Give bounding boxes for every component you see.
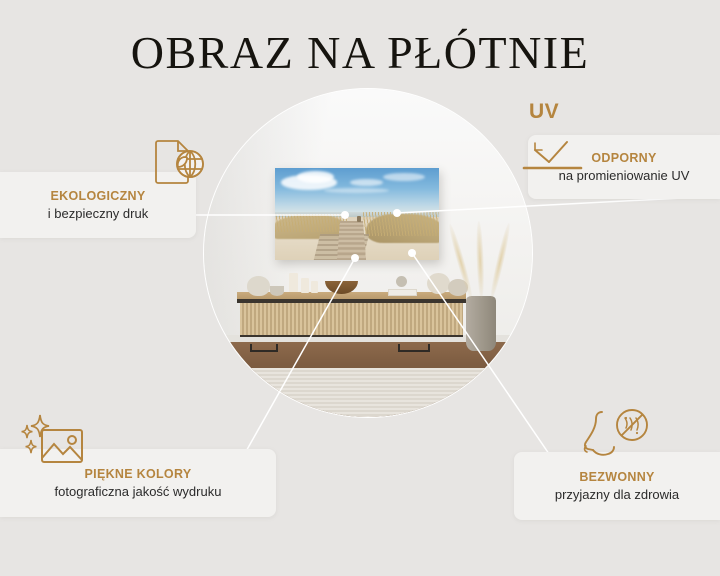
artwork-boardwalk — [336, 221, 366, 260]
artwork-dune-grass — [363, 212, 438, 236]
cloud — [350, 179, 383, 186]
sideboard-fluted-doors — [240, 303, 463, 337]
artwork-post — [357, 216, 362, 222]
feature-subtitle: przyjazny dla zdrowia — [524, 487, 710, 502]
feature-subtitle: fotograficzna jakość wydruku — [10, 484, 266, 499]
poster-canvas: OBRAZ NA PŁÓTNIE — [0, 0, 720, 576]
feature-subtitle: i bezpieczny druk — [10, 206, 186, 221]
sideboard-legs — [246, 344, 457, 352]
decor-candle — [301, 278, 309, 293]
decor-candle — [311, 281, 318, 293]
area-rug — [203, 368, 533, 417]
page-title: OBRAZ NA PŁÓTNIE — [0, 26, 720, 79]
artwork-dune-grass — [275, 214, 349, 232]
decor-candle — [289, 273, 298, 293]
floor-vase — [466, 296, 496, 352]
uv-ray-shield-icon — [519, 100, 589, 177]
canvas-artwork — [275, 168, 439, 260]
interior-room-photo — [204, 89, 532, 417]
decor-bowl — [270, 286, 285, 296]
pampas-grass — [466, 240, 505, 299]
room-scene-circle — [203, 88, 533, 418]
decor-vase — [247, 276, 270, 296]
decor-vase — [427, 273, 450, 294]
eco-document-globe-leaf-icon — [148, 137, 208, 194]
nose-no-smell-icon — [580, 406, 652, 469]
feature-kicker: BEZWONNY — [524, 470, 710, 484]
sideboard — [237, 292, 467, 344]
decor-books — [388, 289, 418, 296]
picture-sparkle-icon — [20, 413, 94, 476]
